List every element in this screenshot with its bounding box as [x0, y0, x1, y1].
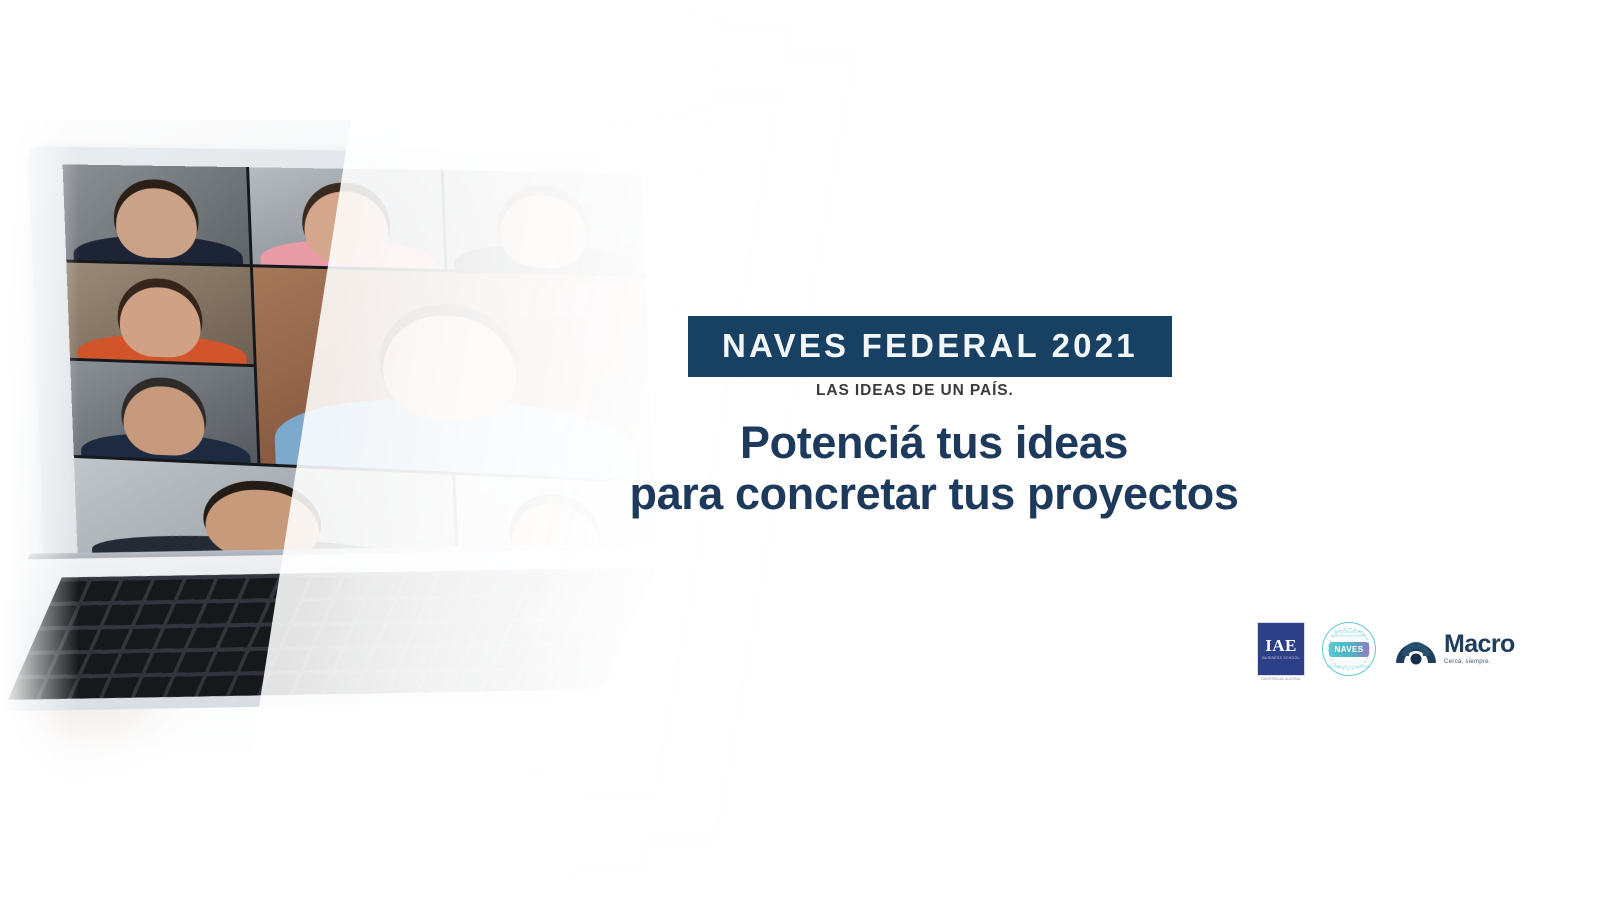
macro-fan-icon	[1394, 633, 1438, 665]
event-title-plate: NAVES FEDERAL 2021	[688, 316, 1172, 377]
headline-line-1: Potenciá tus ideas	[584, 418, 1284, 469]
macro-logo[interactable]: Macro Cerca, siempre.	[1394, 632, 1515, 665]
macro-wordmark: Macro	[1444, 632, 1515, 657]
macro-tagline: Cerca, siempre.	[1444, 659, 1515, 665]
naves-wordmark: NAVES	[1335, 645, 1364, 654]
iae-subtitle: BUSINESS SCHOOL	[1262, 656, 1299, 661]
headline-line-2: para concretar tus proyectos	[584, 469, 1284, 520]
event-tagline: LAS IDEAS DE UN PAÍS.	[816, 382, 1014, 400]
headline: Potenciá tus ideas para concretar tus pr…	[584, 418, 1284, 520]
naves-arc-bottom: IAE BUSINESS SCHOOL	[1323, 665, 1375, 669]
naves-arc-top: PROGRAMA DE EMPRENDEDORES	[1323, 630, 1375, 638]
naves-logo[interactable]: PROGRAMA DE EMPRENDEDORES NAVES IAE BUSI…	[1322, 622, 1376, 676]
macro-wordmark-block: Macro Cerca, siempre.	[1444, 632, 1515, 665]
iae-footer: UNIVERSIDAD AUSTRAL	[1258, 677, 1304, 681]
marketing-banner: NAVES FEDERAL 2021 LAS IDEAS DE UN PAÍS.…	[0, 0, 1600, 900]
event-title: NAVES FEDERAL 2021	[722, 329, 1138, 362]
sponsor-logo-strip: IAE BUSINESS SCHOOL UNIVERSIDAD AUSTRAL …	[1258, 622, 1515, 676]
naves-band: NAVES	[1329, 642, 1369, 657]
iae-wordmark: IAE	[1265, 637, 1296, 654]
iae-logo[interactable]: IAE BUSINESS SCHOOL	[1258, 623, 1304, 675]
content-column: NAVES FEDERAL 2021 LAS IDEAS DE UN PAÍS.…	[680, 0, 1600, 900]
